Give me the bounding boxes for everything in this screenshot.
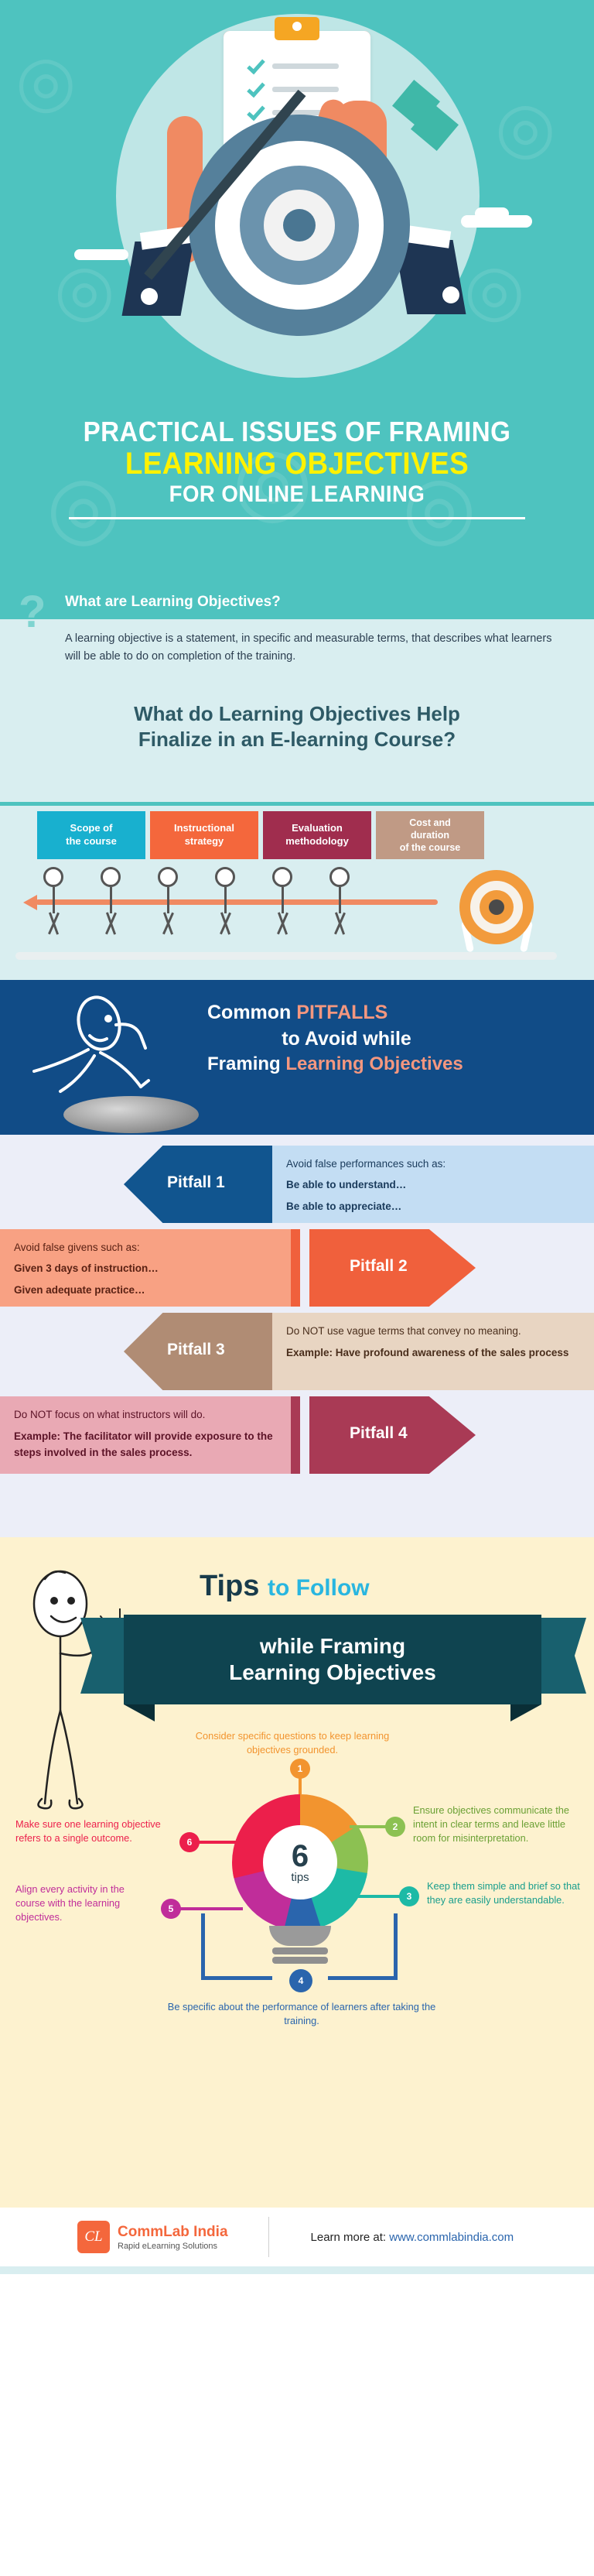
- pitfall-1-line-3: Be able to appreciate…: [286, 1199, 580, 1214]
- pitfalls-header-section: Common PITFALLS to Avoid while Framing L…: [0, 980, 594, 1135]
- pitfall-2-line-3: Given adequate practice…: [14, 1283, 277, 1298]
- definition-section: ? What are Learning Objectives? A learni…: [0, 588, 594, 802]
- pitfalls-line-3: Framing Learning Objectives: [207, 1052, 579, 1077]
- pitfall-3-label: Pitfall 3: [167, 1341, 225, 1359]
- finalize-box-cost-label: Cost and duration of the course: [400, 817, 461, 854]
- pitfall-4-panel-edge: [291, 1396, 300, 1474]
- tip-3-number[interactable]: 3: [399, 1886, 419, 1906]
- runner-shadow: [63, 1096, 199, 1133]
- bulb-center-label: 6 tips: [263, 1825, 337, 1899]
- finalize-subheading: What do Learning Objectives Help Finaliz…: [0, 701, 594, 753]
- definition-heading: What are Learning Objectives?: [65, 594, 281, 611]
- title-line-3: FOR ONLINE LEARNING: [24, 483, 571, 507]
- tip-2-number[interactable]: 2: [385, 1817, 405, 1837]
- footer-divider: [268, 2217, 269, 2257]
- title-line-1: PRACTICAL ISSUES OF FRAMING: [24, 418, 571, 447]
- clipboard-line-1: [272, 63, 339, 69]
- learn-more-label: Learn more at:: [311, 2231, 390, 2244]
- hero-section: ◎ ◎ ◎ ◎ ◎ ◎ ◎: [0, 0, 594, 588]
- footer: CL CommLab India Rapid eLearning Solutio…: [0, 2208, 594, 2266]
- ribbon-fold-right: [510, 1704, 541, 1721]
- pitfall-row-3: Pitfall 3 Do NOT use vague terms that co…: [0, 1313, 594, 1390]
- cloud-icon-2: [475, 207, 509, 220]
- commlab-logo-icon: CL: [77, 2221, 110, 2253]
- running-stickman-icon: [23, 989, 186, 1090]
- pitfall-2-line-1: Avoid false givens such as:: [14, 1240, 277, 1255]
- left-sleeve-button: [141, 288, 158, 305]
- company-tagline: Rapid eLearning Solutions: [118, 2242, 228, 2251]
- clipboard-clip-dot: [292, 22, 302, 31]
- pitfall-4-line-2: Example: The facilitator will provide ex…: [14, 1429, 277, 1461]
- pitfalls-line-2: to Avoid while: [207, 1026, 579, 1053]
- finalize-box-strategy[interactable]: Instructional strategy: [150, 811, 258, 859]
- website-link[interactable]: www.commlabindia.com: [389, 2231, 514, 2244]
- watermark-target-3: ◎: [54, 255, 115, 325]
- tip-1-text: Consider specific questions to keep lear…: [176, 1729, 408, 1757]
- pitfall-3-line-1: Do NOT use vague terms that convey no me…: [286, 1324, 580, 1339]
- infographic-page: ◎ ◎ ◎ ◎ ◎ ◎ ◎: [0, 0, 594, 2576]
- right-sleeve-button: [442, 286, 459, 303]
- tips-section: Tips to Follow while Framing Learning Ob…: [0, 1537, 594, 2208]
- title-line-2: LEARNING OBJECTIVES: [24, 448, 571, 480]
- pitfall-1-panel: Avoid false performances such as: Be abl…: [272, 1146, 594, 1223]
- watermark-target-1: ◎: [15, 46, 77, 116]
- pitfall-2-line-2: Given 3 days of instruction…: [14, 1261, 277, 1276]
- tug-of-war-illustration: [0, 865, 594, 980]
- tip-5-number[interactable]: 5: [161, 1899, 181, 1919]
- pitfall-row-2: Avoid false givens such as: Given 3 days…: [0, 1229, 594, 1307]
- pitfalls-header-text: Common PITFALLS to Avoid while Framing L…: [207, 1000, 579, 1077]
- finalize-box-cost[interactable]: Cost and duration of the course: [376, 811, 484, 859]
- pitfalls-line-1: Common PITFALLS: [207, 1000, 579, 1026]
- tip-6-text: Make sure one learning objective refers …: [15, 1817, 170, 1845]
- pitfall-2-panel-edge: [291, 1229, 300, 1307]
- tip-6-number[interactable]: 6: [179, 1832, 200, 1852]
- footer-band: [0, 2266, 594, 2274]
- learn-more: Learn more at: www.commlabindia.com: [311, 2231, 514, 2244]
- tip-3-text: Keep them simple and brief so that they …: [427, 1879, 582, 1907]
- question-mark-icon: ?: [19, 590, 46, 635]
- finalize-box-scope-label: Scope of the course: [66, 822, 117, 848]
- pitfalls-rows-section: Pitfall 1 Avoid false performances such …: [0, 1135, 594, 1537]
- ribbon-tail-right: [541, 1618, 586, 1694]
- tug-target-bullseye: [489, 899, 504, 915]
- tips-heading: Tips to Follow: [200, 1570, 370, 1603]
- tips-bulb-diagram: Consider specific questions to keep lear…: [0, 1731, 594, 2195]
- bulb-count-label: tips: [291, 1871, 309, 1884]
- finalize-boxes-section: Scope of the course Instructional strate…: [0, 802, 594, 980]
- pitfall-2-panel: Avoid false givens such as: Given 3 days…: [0, 1229, 291, 1307]
- cloud-icon-3: [74, 249, 128, 260]
- target-bullseye: [283, 209, 316, 241]
- tips-ribbon: while Framing Learning Objectives: [124, 1615, 541, 1704]
- commlab-logo-text: CommLab India Rapid eLearning Solutions: [118, 2224, 228, 2251]
- pitfall-3-line-2: Example: Have profound awareness of the …: [286, 1345, 580, 1361]
- finalize-box-list: Scope of the course Instructional strate…: [37, 811, 484, 859]
- pitfall-1-panel-edge: [263, 1146, 272, 1223]
- pitfall-row-1: Pitfall 1 Avoid false performances such …: [0, 1146, 594, 1223]
- finalize-subheading-line2: Finalize in an E-learning Course?: [138, 728, 456, 751]
- pitfall-3-panel: Do NOT use vague terms that convey no me…: [272, 1313, 594, 1390]
- finalize-box-strategy-label: Instructional strategy: [174, 822, 234, 848]
- finalize-box-scope[interactable]: Scope of the course: [37, 811, 145, 859]
- pitfall-3-panel-edge: [263, 1313, 272, 1390]
- tip-4-number[interactable]: 4: [289, 1969, 312, 1992]
- ground-line: [15, 952, 557, 960]
- pitfall-4-line-1: Do NOT focus on what instructors will do…: [14, 1407, 277, 1423]
- watermark-target-2: ◎: [495, 93, 556, 163]
- tip-6-connector: [195, 1841, 243, 1844]
- tip-5-connector: [172, 1907, 243, 1910]
- clipboard-line-2: [272, 87, 339, 92]
- pitfall-1-label: Pitfall 1: [167, 1173, 225, 1192]
- tip-5-text: Align every activity in the course with …: [15, 1882, 156, 1924]
- section-divider: [0, 802, 594, 806]
- hero-title: PRACTICAL ISSUES OF FRAMING LEARNING OBJ…: [0, 418, 594, 519]
- title-divider: [69, 517, 525, 519]
- pitfall-4-panel: Do NOT focus on what instructors will do…: [0, 1396, 291, 1474]
- tip-1-number[interactable]: 1: [290, 1759, 310, 1779]
- pitfall-2-label: Pitfall 2: [350, 1257, 408, 1276]
- finalize-subheading-line1: What do Learning Objectives Help: [134, 702, 460, 725]
- bulb-count: 6: [292, 1841, 309, 1871]
- finalize-box-evaluation[interactable]: Evaluation methodology: [263, 811, 371, 859]
- tips-heading-main: Tips: [200, 1570, 259, 1602]
- company-name: CommLab India: [118, 2224, 228, 2241]
- tips-ribbon-text: while Framing Learning Objectives: [229, 1633, 436, 1686]
- pitfall-row-4: Do NOT focus on what instructors will do…: [0, 1396, 594, 1474]
- watermark-target-4: ◎: [464, 255, 525, 325]
- pitfall-4-label: Pitfall 4: [350, 1424, 408, 1443]
- tip-2-text: Ensure objectives communicate the intent…: [413, 1804, 580, 1845]
- definition-body: A learning objective is a statement, in …: [65, 630, 560, 666]
- tips-heading-accent: to Follow: [268, 1575, 370, 1601]
- finalize-box-evaluation-label: Evaluation methodology: [285, 822, 349, 848]
- pitfall-1-line-1: Avoid false performances such as:: [286, 1156, 580, 1172]
- rope: [36, 899, 438, 905]
- pitfall-1-line-2: Be able to understand…: [286, 1177, 580, 1193]
- tip-4-text: Be specific about the performance of lea…: [155, 2000, 449, 2028]
